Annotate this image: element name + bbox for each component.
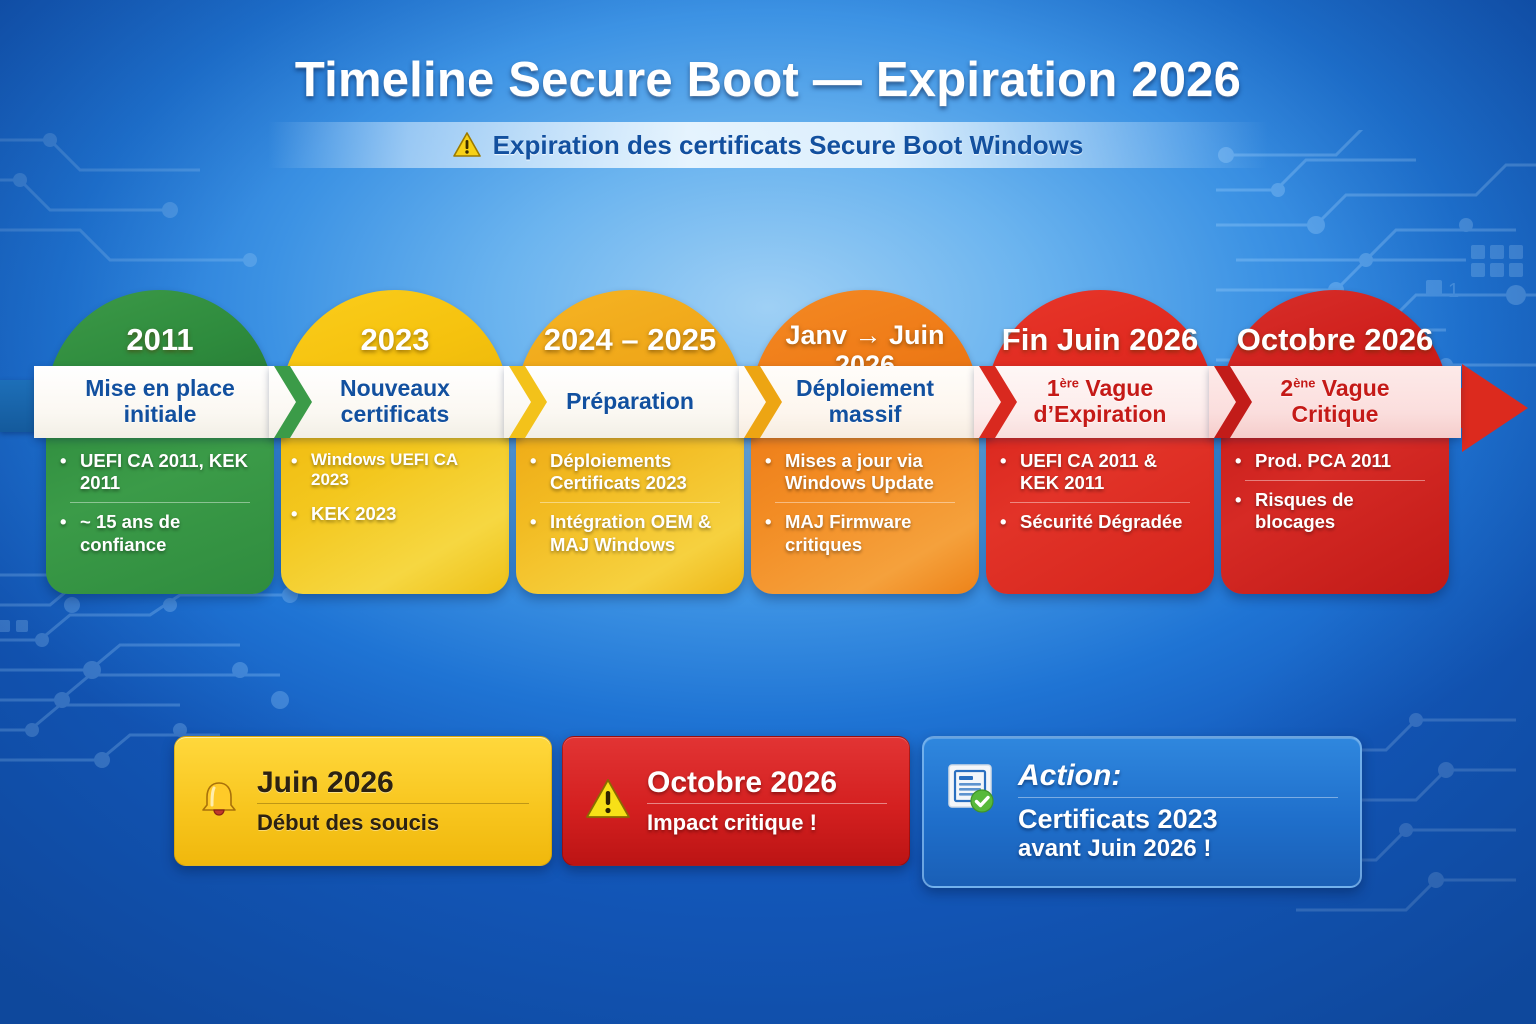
page-title: Timeline Secure Boot — Expiration 2026 (0, 52, 1536, 108)
header: Timeline Secure Boot — Expiration 2026 E… (0, 0, 1536, 168)
callout-sub: Impact critique ! (647, 804, 887, 835)
list-item: Risques de blocages (1237, 483, 1433, 539)
list-item: ~ 15 ans de confiance (62, 505, 258, 561)
list-item: Intégration OEM & MAJ Windows (532, 505, 728, 561)
step-title: 2ène VagueCritique (1262, 376, 1407, 428)
step-chevron (979, 366, 1019, 438)
callout-octobre-2026[interactable]: Octobre 2026 Impact critique ! (562, 736, 910, 866)
subtitle-banner: Expiration des certificats Secure Boot W… (268, 122, 1268, 168)
step-year: 2023 (281, 324, 509, 355)
list-item: Windows UEFI CA 2023 (293, 444, 497, 497)
bullet-separator (540, 502, 720, 503)
step-year: Fin Juin 2026 (986, 324, 1214, 355)
callout-action[interactable]: Action: Certificats 2023 avant Juin 2026… (922, 736, 1362, 888)
callout-sub2: avant Juin 2026 ! (1018, 834, 1338, 864)
bullet-separator (70, 502, 250, 503)
list-item: Mises a jour via Windows Update (767, 444, 963, 500)
step-title: Préparation (548, 389, 712, 415)
document-check-icon (946, 762, 1002, 819)
list-item: Sécurité Dégradée (1002, 505, 1198, 539)
step-bullets: Mises a jour via Windows Update MAJ Firm… (751, 444, 979, 562)
step-chevron (509, 366, 549, 438)
step-bullets: Windows UEFI CA 2023 KEK 2023 (281, 444, 509, 531)
bullet-separator (1010, 502, 1190, 503)
warning-triangle-icon (453, 132, 481, 158)
callout-head: Octobre 2026 (647, 767, 887, 804)
step-bullets: UEFI CA 2011 & KEK 2011 Sécurité Dégradé… (986, 444, 1214, 540)
step-chevron (744, 366, 784, 438)
list-item: Déploiements Certificats 2023 (532, 444, 728, 500)
timeline: Mise en place initiale 2011 UEFI CA 2011… (0, 290, 1536, 620)
step-title-band: Mise en place initiale (34, 366, 286, 438)
step-title: Mise en place initiale (34, 376, 286, 428)
step-title: 1ère Vagued’Expiration (1016, 376, 1185, 428)
infographic-canvas: 1 (0, 0, 1536, 1024)
step-bullets: Prod. PCA 2011 Risques de blocages (1221, 444, 1449, 540)
list-item: UEFI CA 2011, KEK 2011 (62, 444, 258, 500)
step-chevron (274, 366, 314, 438)
list-item: MAJ Firmware critiques (767, 505, 963, 561)
callouts: Juin 2026 Début des soucis Octobre 2026 (0, 736, 1536, 896)
step-bullets: UEFI CA 2011, KEK 2011 ~ 15 ans de confi… (46, 444, 274, 562)
bullet-separator (775, 502, 955, 503)
callout-head: Juin 2026 (257, 767, 529, 804)
step-year: 2011 (46, 324, 274, 355)
warning-triangle-icon (585, 778, 631, 825)
list-item: UEFI CA 2011 & KEK 2011 (1002, 444, 1198, 500)
list-item: KEK 2023 (293, 497, 497, 531)
subtitle-text: Expiration des certificats Secure Boot W… (493, 130, 1084, 161)
list-item: Prod. PCA 2011 (1237, 444, 1433, 478)
callout-head: Action: (1018, 760, 1338, 797)
callout-sub: Certificats 2023 (1018, 798, 1338, 835)
step-year: 2024 – 2025 (516, 324, 744, 355)
bullet-separator (1245, 480, 1425, 481)
callout-juin-2026[interactable]: Juin 2026 Début des soucis (174, 736, 552, 866)
bell-icon (197, 777, 241, 826)
step-year: Octobre 2026 (1221, 324, 1449, 355)
step-bullets: Déploiements Certificats 2023 Intégratio… (516, 444, 744, 562)
callout-sub: Début des soucis (257, 804, 529, 835)
step-chevron (1214, 366, 1254, 438)
